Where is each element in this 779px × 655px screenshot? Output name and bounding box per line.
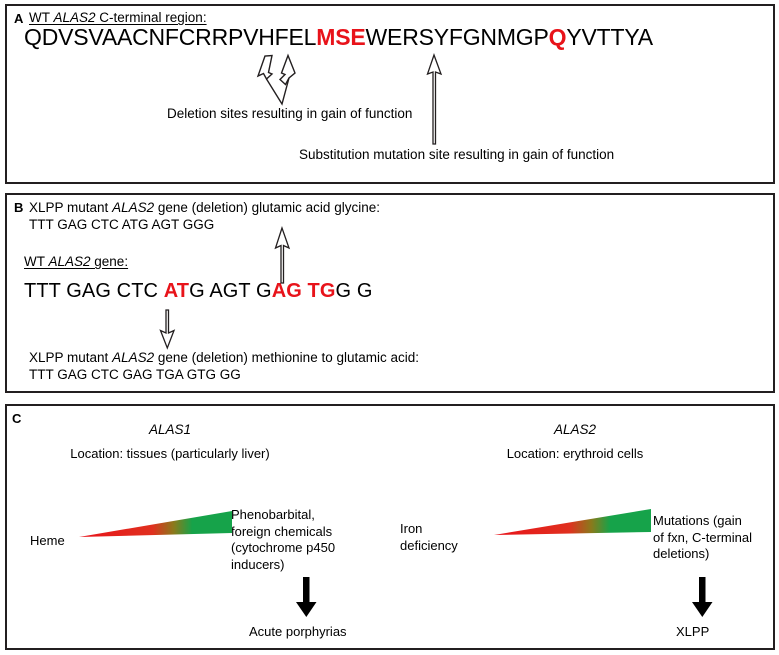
alas2-mutation-line-0: Mutations (gain: [653, 513, 773, 530]
panel-a-title-gene: ALAS2: [54, 10, 96, 25]
alas2-mutation-label: Mutations (gain of fxn, C-terminal delet…: [653, 513, 773, 563]
seq-seg-3: WERSYFGNMGP: [366, 24, 549, 50]
alas1-inducer-line-3: inducers): [231, 557, 361, 574]
alas2-outcome: XLPP: [676, 624, 709, 639]
alas2-input-line-1: deficiency: [400, 538, 490, 555]
alas1-input-label: Heme: [30, 533, 65, 548]
wt-seq-seg-1-red: AT: [164, 280, 189, 302]
wt-gene-label: WT ALAS2 gene:: [24, 254, 128, 271]
panel-a-title-suffix: C-terminal region:: [96, 10, 207, 25]
seq-seg-5: YVTTYA: [566, 24, 653, 50]
mutant-bottom-gene: ALAS2: [112, 350, 154, 365]
seq-seg-2-red: E: [350, 24, 365, 50]
mutant-top-prefix: XLPP mutant: [29, 200, 112, 215]
wt-seq-seg-3-red: AG TG: [272, 280, 336, 302]
mutant-bottom-prefix: XLPP mutant: [29, 350, 112, 365]
alas2-input-label: Iron deficiency: [400, 521, 490, 554]
panel-c-letter: C: [12, 412, 21, 425]
alas2-gene-name: ALAS2: [525, 422, 625, 437]
figure-container: A WT ALAS2 C-terminal region: QDVSVAACNF…: [0, 0, 779, 655]
alas1-inducer-label: Phenobarbital, foreign chemicals (cytoch…: [231, 507, 361, 574]
wt-gene-gene: ALAS2: [49, 254, 91, 269]
mutant-top-sequence: TTT GAG CTC ATG AGT GGG: [29, 217, 214, 234]
alas1-location: Location: tissues (particularly liver): [30, 446, 310, 461]
wt-seq-seg-2: G AGT G: [189, 280, 272, 302]
mutant-top-gene: ALAS2: [112, 200, 154, 215]
substitution-caption: Substitution mutation site resulting in …: [299, 147, 614, 163]
seq-seg-4-red: Q: [549, 24, 567, 50]
protein-sequence: QDVSVAACNFCRRPVHFELMSEWERSYFGNMGPQYVTTYA: [24, 26, 653, 49]
alas1-inducer-line-2: (cytochrome p450: [231, 540, 361, 557]
deletion-caption: Deletion sites resulting in gain of func…: [167, 106, 412, 122]
alas2-mutation-line-2: deletions): [653, 546, 773, 563]
alas2-location: Location: erythroid cells: [465, 446, 685, 461]
panel-a-title-prefix: WT: [29, 10, 54, 25]
panel-a-letter: A: [14, 12, 23, 25]
alas2-input-line-0: Iron: [400, 521, 490, 538]
wt-gene-prefix: WT: [24, 254, 49, 269]
alas1-gene-name: ALAS1: [120, 422, 220, 437]
mutant-top-suffix: gene (deletion) glutamic acid glycine:: [154, 200, 380, 215]
wt-gene-sequence: TTT GAG CTC ATG AGT GAG TGG G: [24, 281, 373, 301]
wt-seq-seg-4: G G: [336, 280, 373, 302]
mutant-bottom-sequence: TTT GAG CTC GAG TGA GTG GG: [29, 367, 241, 384]
seq-seg-1-red: MS: [316, 24, 350, 50]
mutant-bottom-label: XLPP mutant ALAS2 gene (deletion) methio…: [29, 350, 419, 367]
alas2-mutation-line-1: of fxn, C-terminal: [653, 530, 773, 547]
wt-gene-suffix: gene:: [91, 254, 129, 269]
wt-seq-seg-0: TTT GAG CTC: [24, 280, 164, 302]
alas1-inducer-line-1: foreign chemicals: [231, 524, 361, 541]
alas1-inducer-line-0: Phenobarbital,: [231, 507, 361, 524]
mutant-top-label: XLPP mutant ALAS2 gene (deletion) glutam…: [29, 200, 380, 217]
panel-b-letter: B: [14, 201, 23, 214]
alas1-outcome: Acute porphyrias: [249, 624, 347, 639]
seq-seg-0: QDVSVAACNFCRRPVHFEL: [24, 24, 316, 50]
mutant-bottom-suffix: gene (deletion) methionine to glutamic a…: [154, 350, 419, 365]
